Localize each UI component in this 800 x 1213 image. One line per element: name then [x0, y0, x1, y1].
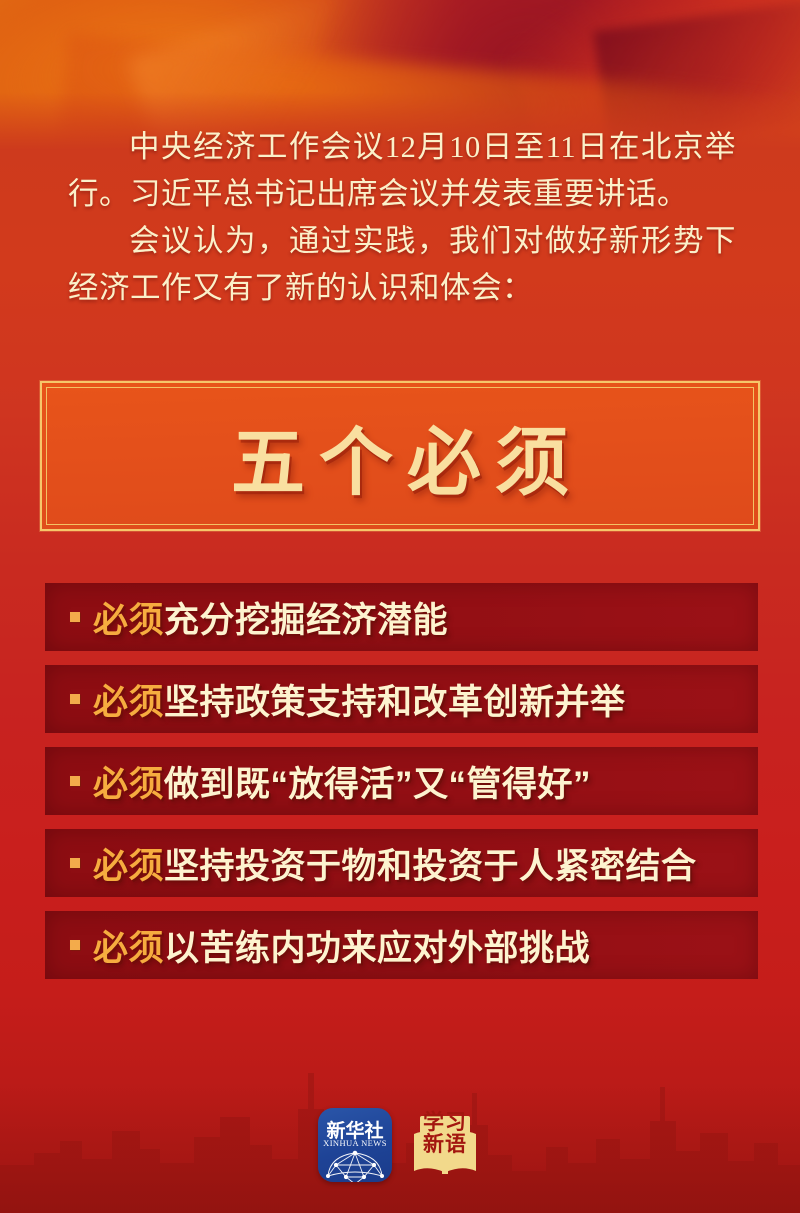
- xuexi-logo-line2: 新语: [408, 1134, 482, 1155]
- network-globe-icon: [318, 1146, 392, 1182]
- list-item-text: 必须坚持政策支持和改革创新并举: [93, 674, 626, 725]
- must-list: 必须充分挖掘经济潜能 必须坚持政策支持和改革创新并举 必须做到既“放得活”又“管…: [45, 583, 758, 993]
- banner-title-text: 五个必须: [217, 403, 583, 510]
- xuexi-xinyu-logo: 学习 新语: [408, 1108, 482, 1182]
- bullet-square-icon: [70, 858, 80, 868]
- intro-text-block: 中央经济工作会议12月10日至11日在北京举行。习近平总书记出席会议并发表重要讲…: [68, 124, 736, 312]
- list-item: 必须坚持投资于物和投资于人紧密结合: [45, 829, 758, 897]
- intro-paragraph-1: 中央经济工作会议12月10日至11日在北京举行。习近平总书记出席会议并发表重要讲…: [68, 124, 736, 218]
- list-item-rest: 充分挖掘经济潜能: [164, 601, 448, 640]
- title-banner: 五个必须: [40, 381, 760, 531]
- bullet-square-icon: [70, 612, 80, 622]
- bullet-square-icon: [70, 776, 80, 786]
- xuexi-logo-line1: 学习: [408, 1112, 482, 1133]
- bullet-square-icon: [70, 940, 80, 950]
- list-item-text: 必须坚持投资于物和投资于人紧密结合: [93, 838, 697, 889]
- title-banner-inner-frame: 五个必须: [46, 387, 754, 525]
- poster-root: 中央经济工作会议12月10日至11日在北京举行。习近平总书记出席会议并发表重要讲…: [0, 0, 800, 1213]
- list-item-keyword: 必须: [93, 765, 164, 804]
- list-item-text: 必须做到既“放得活”又“管得好”: [93, 756, 591, 807]
- list-item-text: 必须以苦练内功来应对外部挑战: [93, 920, 590, 971]
- xinhua-news-logo: 新华社 XINHUA NEWS: [318, 1108, 392, 1182]
- list-item-rest: 以苦练内功来应对外部挑战: [164, 929, 590, 968]
- list-item-rest: 坚持投资于物和投资于人紧密结合: [164, 847, 697, 886]
- list-item-rest: 做到既“放得活”又“管得好”: [164, 765, 591, 804]
- list-item-keyword: 必须: [93, 847, 164, 886]
- list-item: 必须以苦练内功来应对外部挑战: [45, 911, 758, 979]
- list-item-keyword: 必须: [93, 683, 164, 722]
- list-item-text: 必须充分挖掘经济潜能: [93, 592, 448, 643]
- list-item: 必须做到既“放得活”又“管得好”: [45, 747, 758, 815]
- intro-paragraph-2: 会议认为，通过实践，我们对做好新形势下经济工作又有了新的认识和体会：: [68, 218, 736, 312]
- bullet-square-icon: [70, 694, 80, 704]
- list-item-rest: 坚持政策支持和改革创新并举: [164, 683, 626, 722]
- list-item-keyword: 必须: [93, 601, 164, 640]
- list-item: 必须充分挖掘经济潜能: [45, 583, 758, 651]
- list-item: 必须坚持政策支持和改革创新并举: [45, 665, 758, 733]
- list-item-keyword: 必须: [93, 929, 164, 968]
- footer-logos: 新华社 XINHUA NEWS: [0, 1108, 800, 1182]
